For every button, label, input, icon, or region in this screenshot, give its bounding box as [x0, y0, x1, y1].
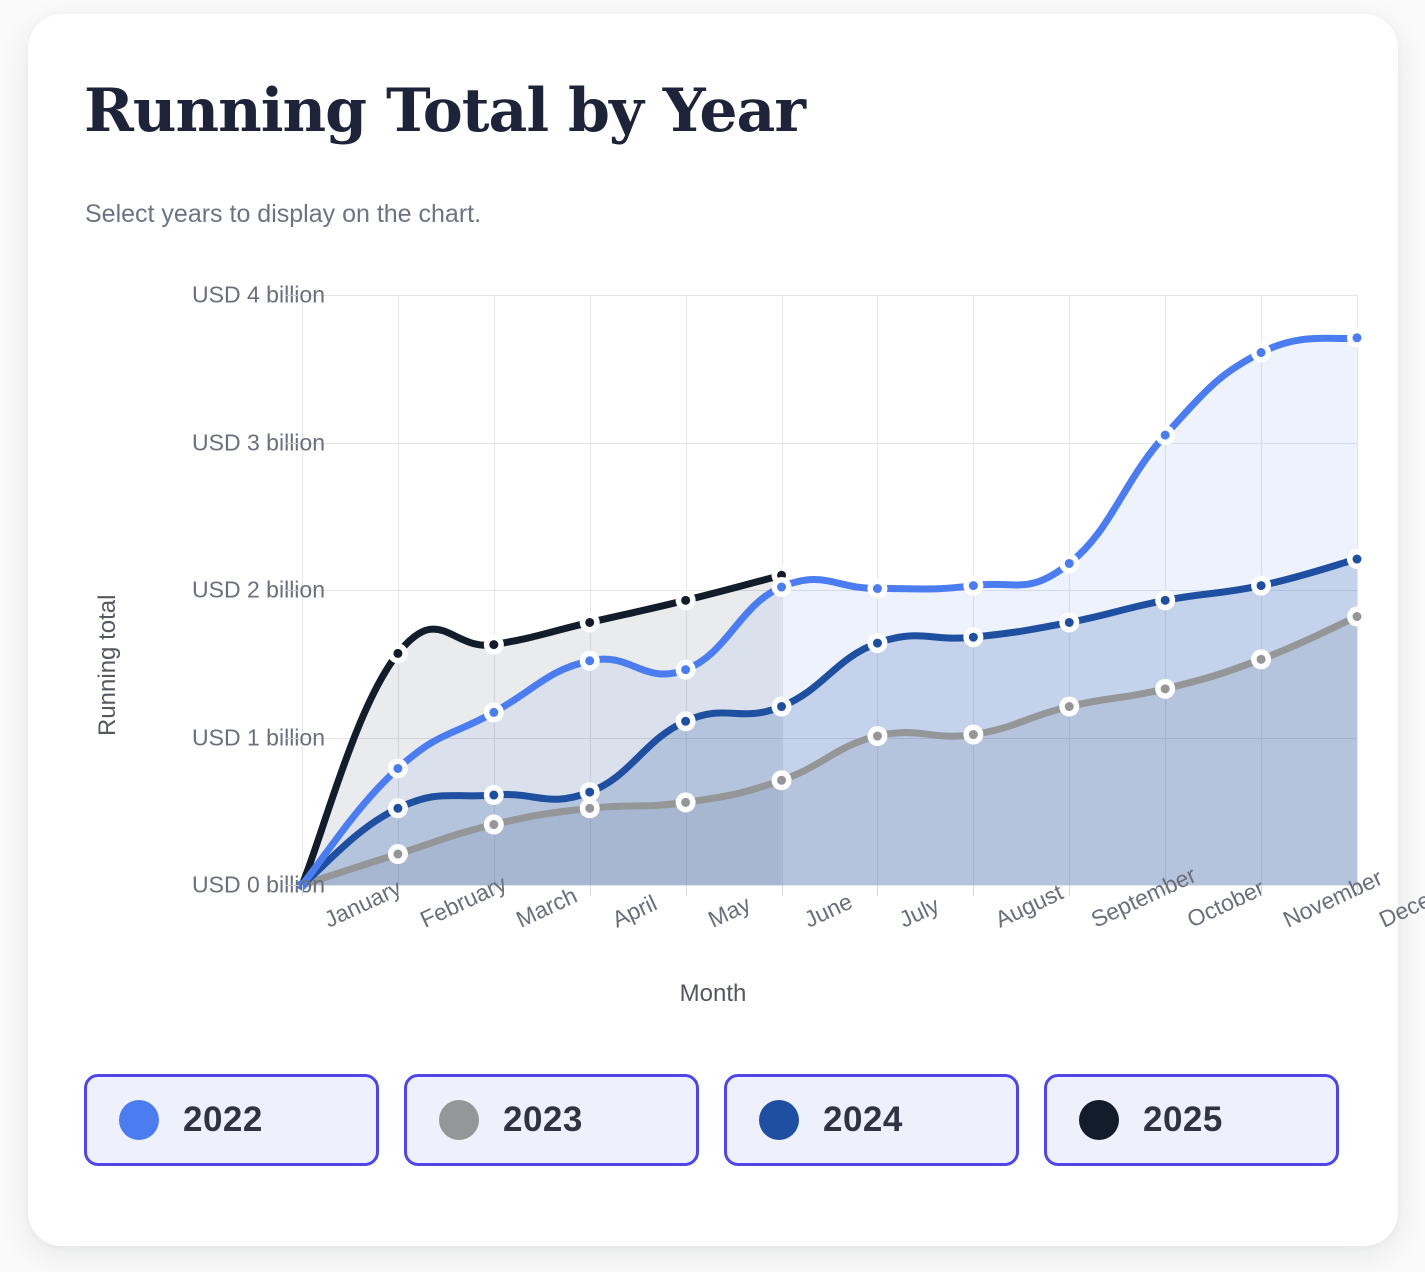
x-axis-tick-label: February [416, 909, 427, 933]
x-axis-tick-label: June [800, 909, 811, 933]
x-axis-tick-mark [398, 885, 399, 896]
y-axis-tick-mark [285, 885, 299, 886]
series-point-2024[interactable] [393, 804, 402, 813]
x-axis-tick-mark [686, 885, 687, 896]
series-point-2024[interactable] [1353, 555, 1362, 564]
x-axis-tick-label: August [991, 909, 1002, 933]
y-axis-title: Running total [94, 595, 122, 736]
series-point-2022[interactable] [777, 583, 786, 592]
y-axis-tick-label: USD 0 billion [192, 872, 325, 899]
x-axis-tick-label: April [608, 909, 619, 933]
legend-label: 2025 [1143, 1100, 1223, 1140]
series-point-2022[interactable] [585, 656, 594, 665]
x-axis-title: Month [28, 980, 1398, 1008]
y-axis-tick-label: USD 3 billion [192, 429, 325, 456]
legend-label: 2022 [183, 1100, 263, 1140]
series-point-2022[interactable] [873, 584, 882, 593]
legend-toggle-group: 2022202320242025 [84, 1074, 1339, 1166]
series-point-2024[interactable] [1065, 618, 1074, 627]
x-axis-tick-mark [302, 885, 303, 896]
x-axis-tick-mark [973, 885, 974, 896]
series-point-2023[interactable] [1257, 655, 1266, 664]
x-axis-tick-label: October [1183, 909, 1194, 933]
legend-toggle-2024[interactable]: 2024 [724, 1074, 1019, 1166]
series-lines [302, 295, 1357, 885]
x-axis-tick-label: July [895, 909, 906, 933]
x-axis-tick-mark [1069, 885, 1070, 896]
gridline-vertical [1357, 295, 1358, 885]
series-point-2023[interactable] [1065, 702, 1074, 711]
x-axis-tick-mark [782, 885, 783, 896]
y-axis-tick-label: USD 1 billion [192, 724, 325, 751]
legend-label: 2023 [503, 1100, 583, 1140]
y-axis-tick-mark [285, 295, 299, 296]
x-axis-tick-mark [1357, 885, 1358, 896]
x-axis-tick-label: December [1375, 909, 1386, 933]
x-axis-tick-mark [1165, 885, 1166, 896]
series-point-2023[interactable] [489, 820, 498, 829]
y-axis-tick-mark [285, 590, 299, 591]
series-point-2024[interactable] [1161, 596, 1170, 605]
series-point-2023[interactable] [585, 804, 594, 813]
x-axis-tick-mark [590, 885, 591, 896]
series-point-2023[interactable] [777, 776, 786, 785]
y-axis-tick-mark [285, 443, 299, 444]
x-axis-tick-label: May [704, 909, 715, 933]
x-axis-tick-label: September [1087, 909, 1098, 933]
legend-color-swatch-icon [439, 1100, 479, 1140]
page-root: Running Total by Year Select years to di… [0, 0, 1425, 1272]
series-area-2022 [302, 338, 1357, 885]
x-axis-tick-label: January [320, 909, 331, 933]
y-axis-tick-mark [285, 738, 299, 739]
y-axis-tick-label: USD 2 billion [192, 577, 325, 604]
legend-toggle-2025[interactable]: 2025 [1044, 1074, 1339, 1166]
series-point-2023[interactable] [681, 798, 690, 807]
series-point-2024[interactable] [1257, 581, 1266, 590]
plot-region [302, 295, 1357, 885]
series-point-2022[interactable] [681, 665, 690, 674]
legend-label: 2024 [823, 1100, 903, 1140]
series-point-2023[interactable] [1353, 612, 1362, 621]
legend-color-swatch-icon [759, 1100, 799, 1140]
series-point-2022[interactable] [393, 764, 402, 773]
series-point-2023[interactable] [969, 730, 978, 739]
x-axis-tick-mark [877, 885, 878, 896]
chart-card: Running Total by Year Select years to di… [28, 14, 1398, 1246]
x-axis-tick-mark [494, 885, 495, 896]
series-point-2025[interactable] [489, 640, 498, 649]
series-point-2025[interactable] [585, 618, 594, 627]
series-point-2023[interactable] [1161, 684, 1170, 693]
x-axis-tick-mark [1261, 885, 1262, 896]
series-point-2023[interactable] [393, 850, 402, 859]
series-point-2024[interactable] [489, 791, 498, 800]
series-point-2025[interactable] [681, 596, 690, 605]
series-point-2022[interactable] [1161, 431, 1170, 440]
legend-color-swatch-icon [119, 1100, 159, 1140]
x-axis-tick-label: November [1279, 909, 1290, 933]
series-point-2023[interactable] [873, 732, 882, 741]
x-axis-tick-label: March [512, 909, 523, 933]
chart-area: Running total Month USD 0 billionUSD 1 b… [28, 250, 1398, 1050]
legend-color-swatch-icon [1079, 1100, 1119, 1140]
page-subtitle: Select years to display on the chart. [85, 200, 481, 229]
series-point-2024[interactable] [777, 702, 786, 711]
series-point-2022[interactable] [1257, 348, 1266, 357]
series-point-2022[interactable] [969, 581, 978, 590]
y-axis-tick-label: USD 4 billion [192, 282, 325, 309]
series-point-2022[interactable] [1353, 333, 1362, 342]
legend-toggle-2022[interactable]: 2022 [84, 1074, 379, 1166]
series-point-2024[interactable] [969, 633, 978, 642]
series-point-2022[interactable] [1065, 559, 1074, 568]
series-point-2024[interactable] [681, 717, 690, 726]
series-point-2022[interactable] [489, 708, 498, 717]
series-point-2025[interactable] [393, 649, 402, 658]
legend-toggle-2023[interactable]: 2023 [404, 1074, 699, 1166]
series-point-2024[interactable] [873, 639, 882, 648]
series-point-2024[interactable] [585, 788, 594, 797]
page-title: Running Total by Year [84, 76, 805, 146]
